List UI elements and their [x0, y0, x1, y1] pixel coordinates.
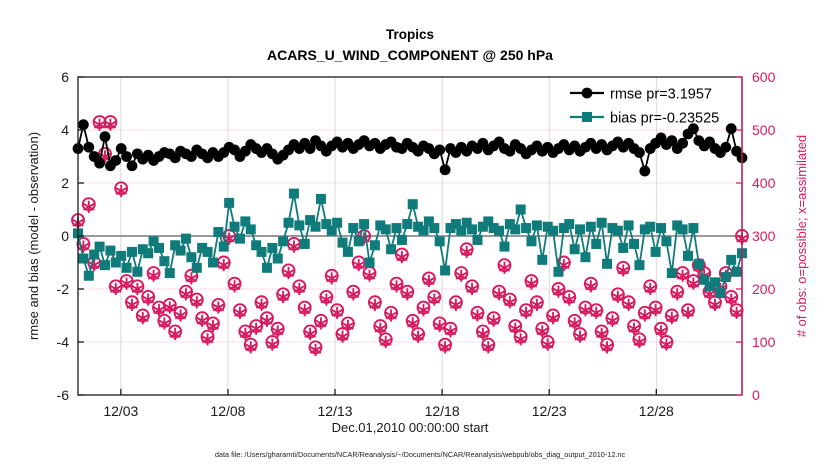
y-axis-left-label: rmse and bias (model - observation) — [26, 132, 41, 340]
x-axis-label: Dec.01,2010 00:00:00 start — [332, 420, 489, 435]
x-tick-label: 12/18 — [425, 403, 460, 419]
x-tick-label: 12/13 — [318, 403, 353, 419]
legend-label: bias pr=-0.23525 — [610, 111, 719, 127]
y-tick-right: 0 — [752, 387, 760, 403]
y-tick-right: 100 — [752, 334, 776, 350]
y-axis-right-label: # of obs: o=possible; x=assimilated — [794, 135, 809, 337]
y-tick-left: 2 — [61, 175, 69, 191]
y-tick-right: 500 — [752, 122, 776, 138]
y-tick-right: 400 — [752, 175, 776, 191]
y-tick-left: -4 — [57, 334, 70, 350]
x-tick-label: 12/28 — [639, 403, 674, 419]
y-tick-left: 0 — [61, 228, 69, 244]
y-tick-left: -6 — [57, 387, 70, 403]
legend-label: rmse pr=3.1957 — [610, 87, 712, 103]
x-tick-label: 12/03 — [103, 403, 138, 419]
y-tick-left: -2 — [57, 281, 70, 297]
x-tick-label: 12/08 — [210, 403, 245, 419]
y-tick-right: 200 — [752, 281, 776, 297]
x-tick-label: 12/23 — [532, 403, 567, 419]
y-tick-left: 4 — [61, 122, 69, 138]
y-tick-right: 600 — [752, 69, 776, 85]
observation-diagnostics-figure: Tropics ACARS_U_WIND_COMPONENT @ 250 hPa… — [0, 0, 830, 470]
data-file-footer: data file: /Users/gharamti/Documents/NCA… — [215, 450, 626, 459]
chart-subtitle: ACARS_U_WIND_COMPONENT @ 250 hPa — [267, 47, 553, 63]
y-tick-right: 300 — [752, 228, 776, 244]
chart-title: Tropics — [386, 27, 434, 42]
y-tick-left: 6 — [61, 69, 69, 85]
